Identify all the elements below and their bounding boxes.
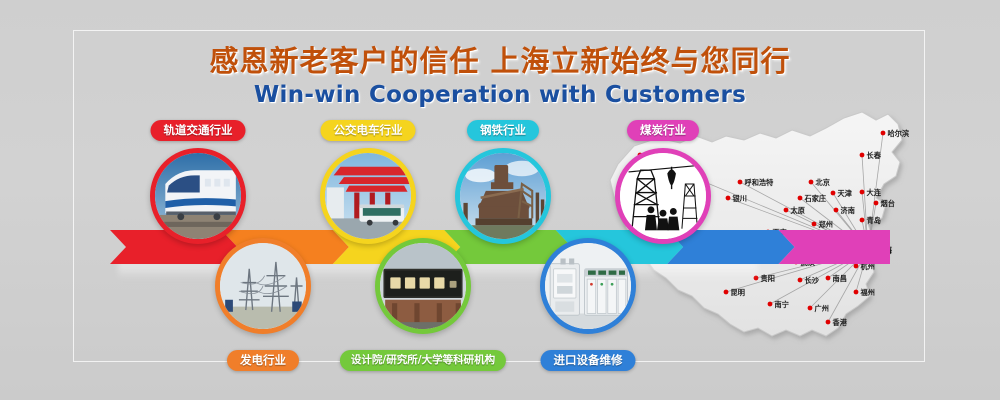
- map-city-dot: [826, 320, 831, 325]
- map-city-dot: [860, 190, 865, 195]
- map-city-label: 昆明: [731, 288, 745, 297]
- map-city-dot: [812, 222, 817, 227]
- map-city-dot: [798, 278, 803, 283]
- power-transmission-icon: [220, 243, 306, 329]
- map-city-label: 南昌: [833, 274, 847, 283]
- map-city-dot: [874, 201, 879, 206]
- map-city-label: 烟台: [881, 199, 895, 208]
- map-city-dot: [860, 218, 865, 223]
- industry-node[interactable]: 煤炭行业: [615, 148, 711, 244]
- map-city-dot: [726, 196, 731, 201]
- industry-node[interactable]: 钢铁行业: [455, 148, 551, 244]
- map-city-dot: [854, 264, 859, 269]
- map-city-label: 香港: [833, 318, 848, 327]
- industry-photo-circle: [215, 238, 311, 334]
- industry-photo-circle: [615, 148, 711, 244]
- map-city-dot: [860, 153, 865, 158]
- map-city-label: 福州: [860, 288, 875, 297]
- map-city-label: 郑州: [819, 220, 833, 229]
- map-city-dot: [881, 131, 886, 136]
- university-sign-icon: [380, 243, 466, 329]
- industry-label-badge[interactable]: 进口设备维修: [541, 350, 636, 371]
- page-title-english: Win-win Cooperation with Customers: [0, 80, 1000, 110]
- industry-label-badge[interactable]: 发电行业: [227, 350, 299, 371]
- map-city-dot: [854, 290, 859, 295]
- map-city-dot: [808, 306, 813, 311]
- industry-photo-circle: [375, 238, 471, 334]
- map-city-label: 长沙: [805, 276, 820, 285]
- map-city-dot: [724, 290, 729, 295]
- industry-photo-circle: [455, 148, 551, 244]
- map-city-dot: [738, 180, 743, 185]
- industry-node[interactable]: 轨道交通行业: [150, 148, 246, 244]
- industry-node[interactable]: 发电行业: [215, 238, 311, 334]
- map-city-dot: [831, 191, 836, 196]
- map-city-label: 石家庄: [804, 194, 827, 203]
- map-city-label: 呼和浩特: [745, 178, 775, 187]
- map-city-label: 哈尔滨: [888, 129, 910, 138]
- industry-photo-circle: [540, 238, 636, 334]
- industry-photo-circle: [320, 148, 416, 244]
- train-icon: [155, 153, 241, 239]
- industry-label-badge[interactable]: 钢铁行业: [467, 120, 539, 141]
- map-city-dot: [784, 208, 789, 213]
- map-city-label: 济南: [841, 206, 855, 215]
- map-city-label: 长春: [867, 151, 882, 160]
- title-block: 感恩新老客户的信任 上海立新始终与您同行 Win-win Cooperation…: [0, 44, 1000, 110]
- industry-label-badge[interactable]: 轨道交通行业: [151, 120, 246, 141]
- map-city-label: 太原: [790, 206, 805, 215]
- map-city-dot: [798, 196, 803, 201]
- page-title-chinese: 感恩新老客户的信任 上海立新始终与您同行: [0, 44, 1000, 78]
- industry-label-badge[interactable]: 煤炭行业: [627, 120, 699, 141]
- ribbon-segment: [779, 230, 890, 264]
- industry-label-badge[interactable]: 公交电车行业: [321, 120, 416, 141]
- map-city-dot: [826, 276, 831, 281]
- banner-root: 哈尔滨长春呼和浩特北京天津大连石家庄烟台太原济南青岛银川乌鲁木齐郑州西安南京合肥…: [0, 0, 1000, 400]
- map-city-label: 天津: [838, 189, 853, 198]
- map-city-label: 广州: [815, 304, 829, 313]
- blast-furnace-icon: [460, 153, 546, 239]
- map-city-label: 南宁: [775, 300, 789, 309]
- industry-photo-circle: [150, 148, 246, 244]
- map-city-label: 北京: [816, 178, 830, 187]
- switchgear-cabinet-icon: [545, 243, 631, 329]
- map-city-dot: [834, 208, 839, 213]
- map-city-label: 贵阳: [761, 274, 775, 283]
- industry-node[interactable]: 公交电车行业: [320, 148, 416, 244]
- map-city-label: 青岛: [867, 216, 881, 225]
- bus-expo-icon: [325, 153, 411, 239]
- map-city-label: 银川: [733, 194, 747, 203]
- coal-mine-icon: [620, 153, 706, 239]
- map-city-label: 大连: [867, 188, 882, 197]
- industry-node[interactable]: 设计院/研究所/大学等科研机构: [375, 238, 471, 334]
- map-city-dot: [768, 302, 773, 307]
- industry-label-badge[interactable]: 设计院/研究所/大学等科研机构: [340, 350, 506, 371]
- map-city-dot: [809, 180, 814, 185]
- industry-node[interactable]: 进口设备维修: [540, 238, 636, 334]
